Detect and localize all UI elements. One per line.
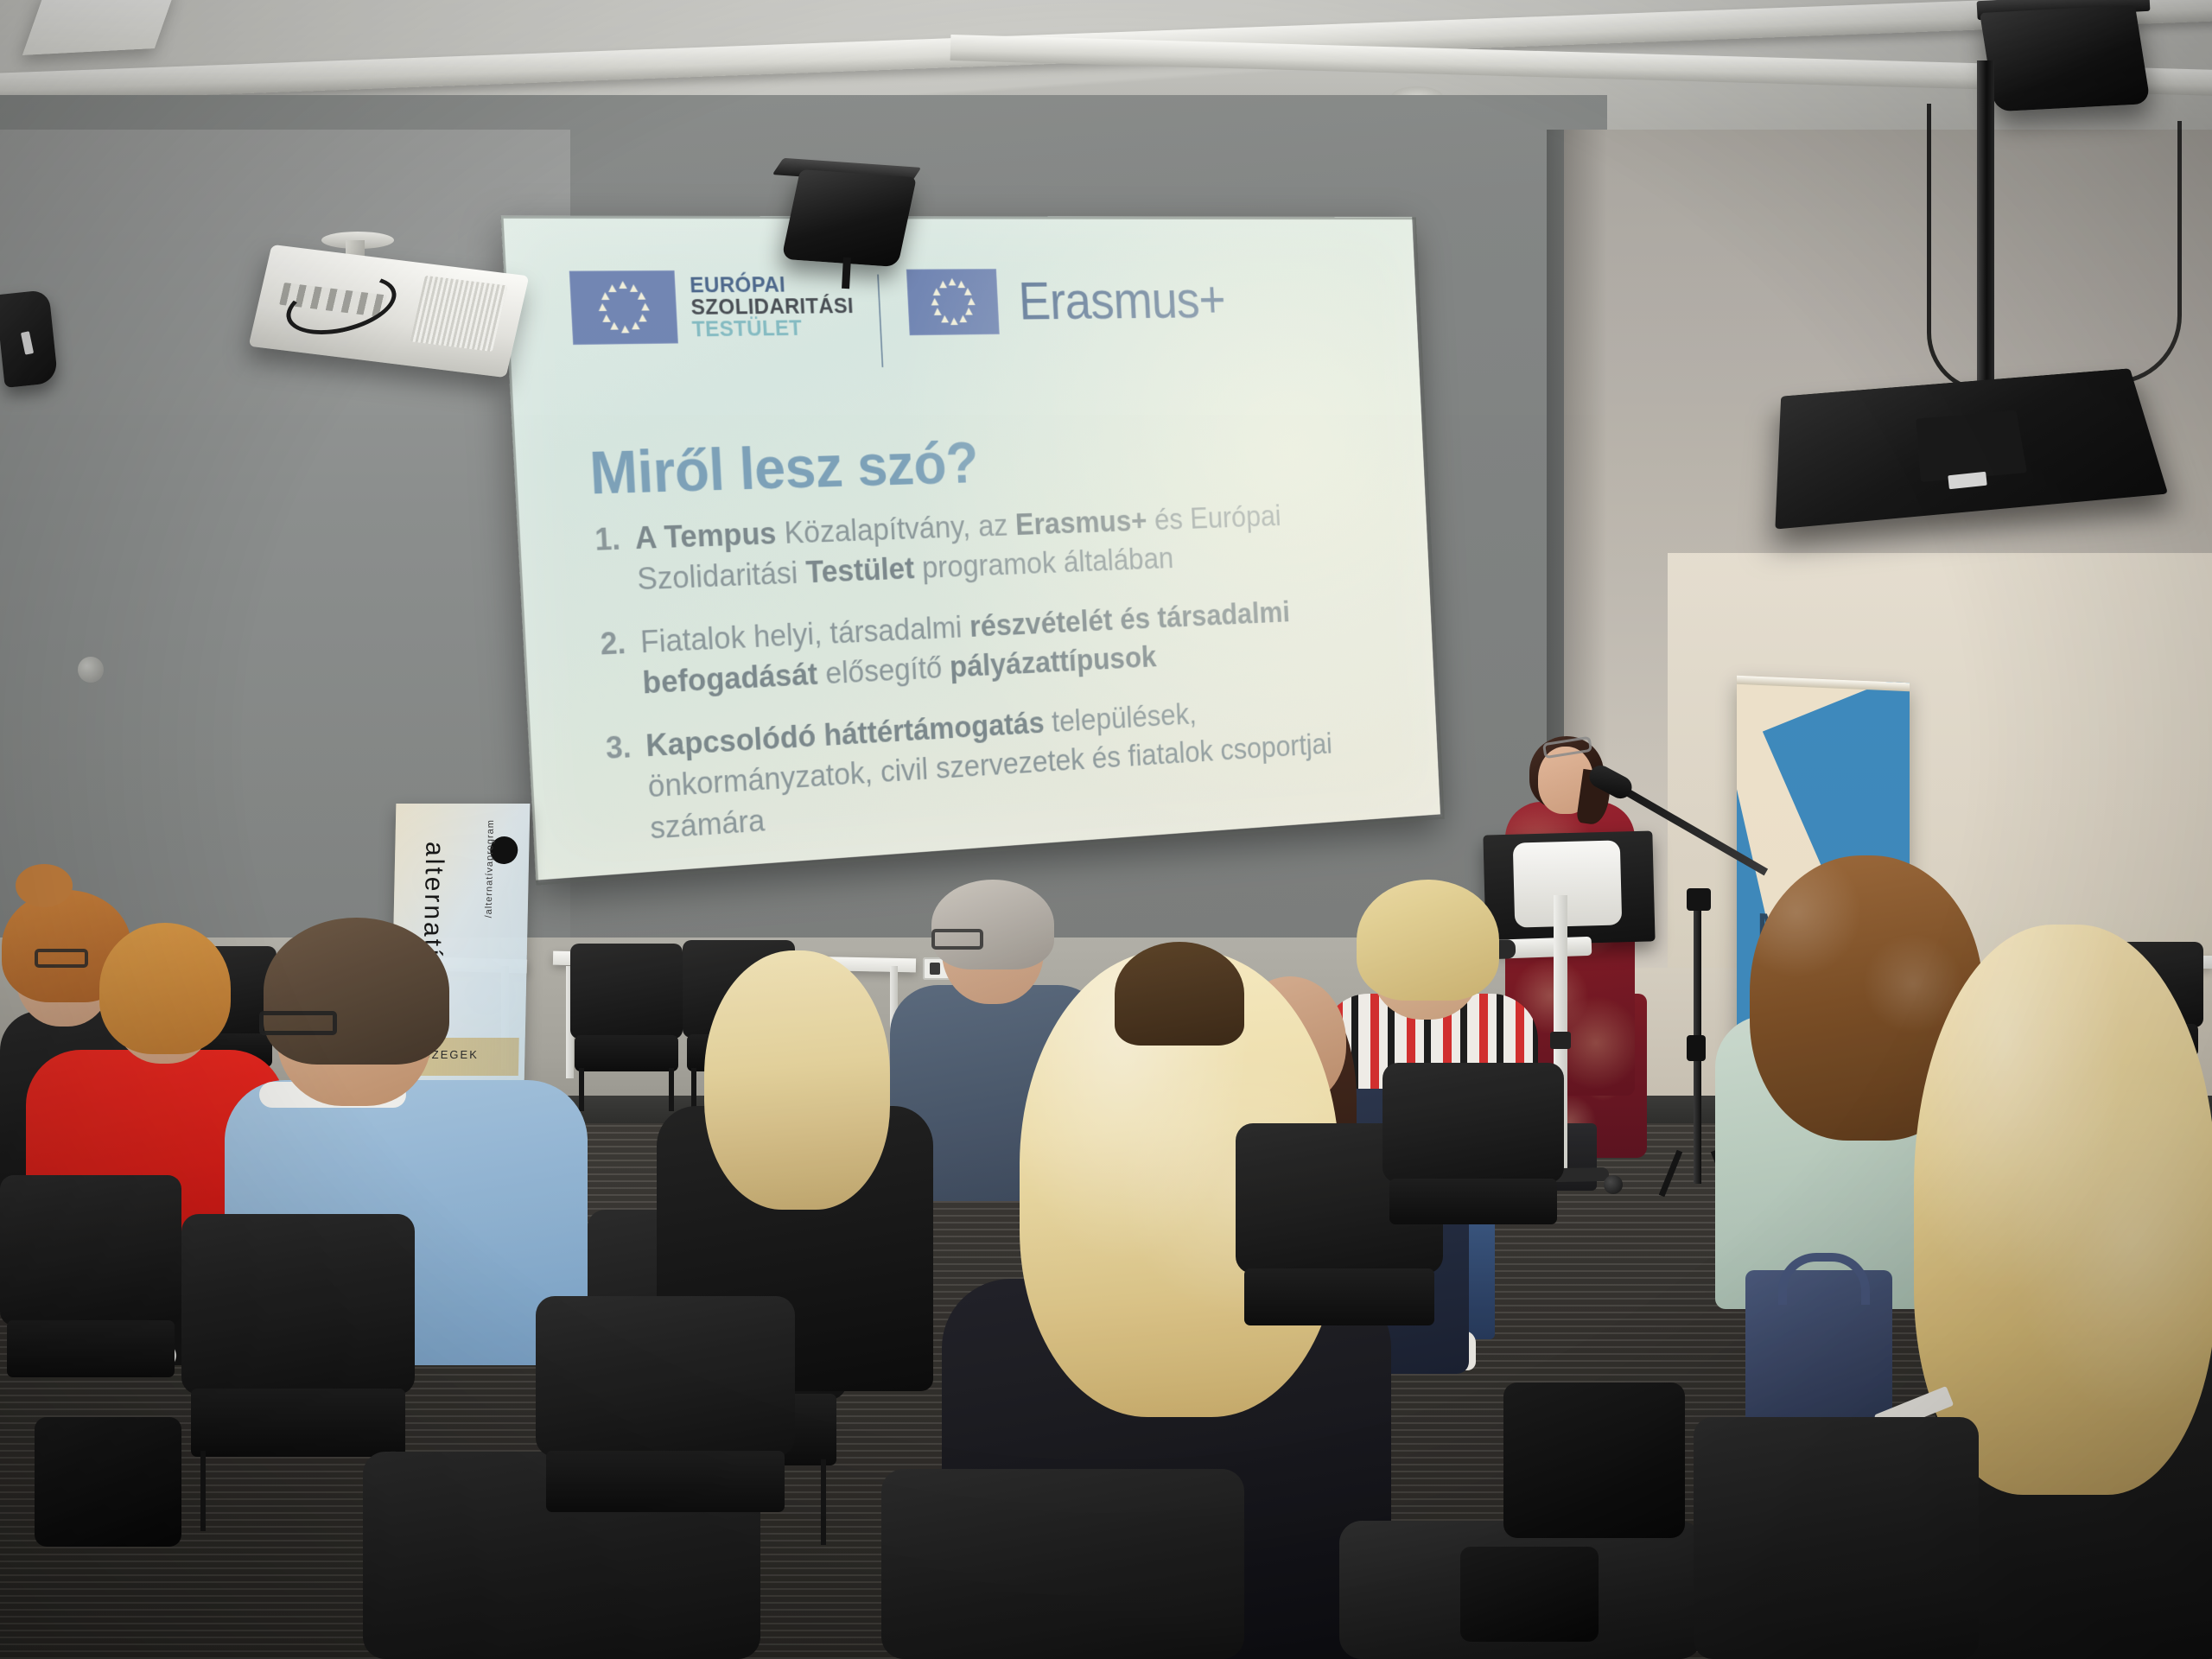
eu-star-icon	[619, 281, 627, 289]
ceiling-speaker-icon	[781, 169, 917, 267]
eu-star-icon	[932, 288, 940, 296]
eu-star-icon	[629, 284, 638, 292]
eu-star-icon	[964, 288, 972, 296]
eu-star-icon	[602, 315, 611, 322]
eu-star-icon	[632, 322, 640, 330]
eu-star-icon	[931, 298, 938, 306]
floor-bag	[1503, 1382, 1685, 1538]
slide-bullet-list: 1. A Tempus Közalapítvány, az Erasmus+ é…	[594, 493, 1398, 851]
eu-flag-icon	[906, 269, 999, 335]
eu-star-icon	[959, 315, 967, 322]
lectern-wheel	[1604, 1175, 1623, 1194]
eu-star-icon	[950, 317, 957, 325]
eu-star-icon	[967, 297, 975, 305]
slide-title: Miről lesz szó?	[588, 420, 1383, 507]
chair	[0, 1175, 181, 1434]
esc-wordmark: EURÓPAI SZOLIDARITÁSI TESTÜLET	[690, 273, 855, 340]
eu-star-icon	[965, 308, 973, 315]
floor-bag	[1460, 1547, 1599, 1642]
eu-star-icon	[608, 284, 617, 292]
list-text: A Tempus Közalapítvány, az Erasmus+ és E…	[634, 493, 1388, 600]
eu-star-icon	[938, 281, 946, 289]
eu-star-icon	[610, 322, 619, 330]
esc-line-2: SZOLIDARITÁSI	[690, 295, 854, 318]
slide: EURÓPAI SZOLIDARITÁSI TESTÜLET Erasmus+ …	[501, 216, 1440, 880]
slide-list-item: 1. A Tempus Közalapítvány, az Erasmus+ é…	[594, 493, 1388, 601]
erasmus-wordmark: Erasmus+	[1017, 270, 1226, 332]
eu-star-icon	[638, 292, 646, 300]
eu-star-icon	[639, 314, 647, 321]
eu-star-icon	[601, 292, 609, 300]
presentation-photo: EURÓPAI SZOLIDARITÁSI TESTÜLET Erasmus+ …	[0, 0, 2212, 1659]
wall-speaker-icon	[0, 289, 58, 388]
microphone-clamp	[1687, 1035, 1706, 1061]
tv-mount-pole	[1977, 60, 1994, 406]
slide-logo-row: EURÓPAI SZOLIDARITÁSI TESTÜLET Erasmus+	[569, 267, 1380, 409]
eu-star-icon	[948, 278, 956, 286]
hair-roots	[1115, 942, 1244, 1046]
floor-bag	[35, 1417, 181, 1547]
erasmus-plus-logo: Erasmus+	[906, 268, 1226, 335]
eu-star-icon	[599, 303, 607, 311]
list-number: 2.	[600, 623, 629, 706]
banner-secondary-text: /alternatívaprogram	[484, 819, 496, 918]
list-number: 1.	[594, 518, 623, 601]
eu-flag-icon	[569, 270, 678, 345]
lectern-joint	[1550, 1032, 1571, 1049]
slide-list-item: 2. Fiatalok helyi, társadalmi részvételé…	[600, 588, 1393, 706]
chair	[881, 1469, 1244, 1659]
tv-vesa-bracket	[1916, 410, 2027, 482]
projector-vents	[410, 276, 508, 352]
hair	[1914, 925, 2212, 1495]
tv-cable	[2013, 121, 2182, 385]
speaker-led	[21, 331, 34, 355]
chair	[536, 1296, 795, 1573]
eu-star-icon	[933, 308, 941, 315]
list-text: Kapcsolódó háttértámogatás települések, …	[645, 683, 1398, 849]
speaker-stem	[842, 257, 851, 289]
eu-star-icon	[621, 325, 630, 333]
hair	[704, 950, 890, 1210]
chair	[1694, 1417, 1979, 1659]
wall-sensor	[78, 657, 104, 683]
lectern-panel	[1513, 840, 1623, 927]
logo-divider	[877, 275, 883, 367]
microphone-joint	[1687, 888, 1711, 911]
european-solidarity-corps-logo: EURÓPAI SZOLIDARITÁSI TESTÜLET	[569, 270, 855, 345]
chair	[1382, 1063, 1564, 1270]
projection-screen: EURÓPAI SZOLIDARITÁSI TESTÜLET Erasmus+ …	[501, 216, 1440, 880]
esc-line-3: TESTÜLET	[691, 316, 855, 340]
chair	[570, 944, 683, 1108]
eu-star-icon	[940, 315, 948, 323]
eu-star-icon	[957, 281, 965, 289]
strip-light	[22, 0, 176, 55]
list-number: 3.	[605, 727, 637, 851]
ceiling-speaker-icon	[1980, 5, 2151, 112]
list-text: Fiatalok helyi, társadalmi részvételét é…	[639, 588, 1392, 703]
eu-star-icon	[641, 303, 650, 311]
